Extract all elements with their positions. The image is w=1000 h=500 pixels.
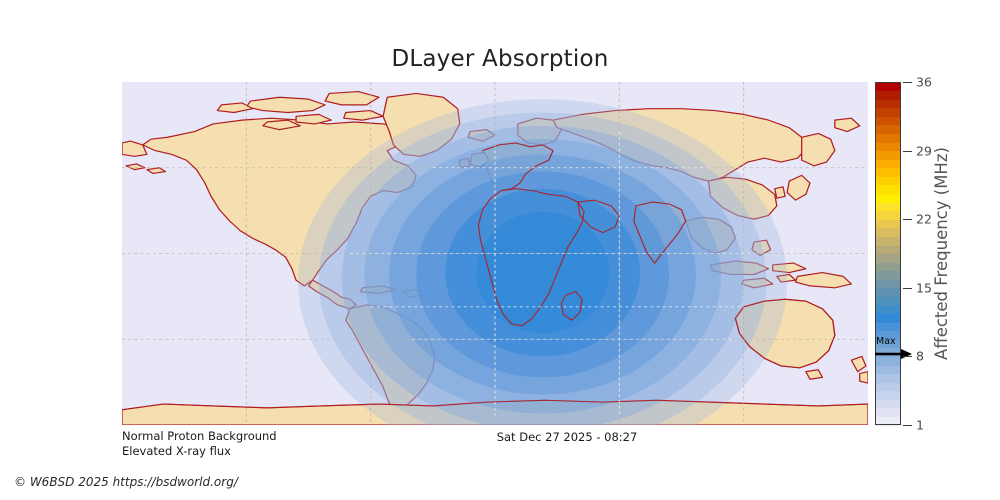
- colorbar-band: [875, 296, 901, 305]
- map-canvas: [122, 82, 868, 425]
- colorbar-band: [875, 245, 901, 254]
- colorbar-band: [875, 271, 901, 280]
- colorbar-tick: [903, 219, 912, 220]
- colorbar-band: [875, 254, 901, 263]
- colorbar-band: [875, 108, 901, 117]
- colorbar-tick: [903, 82, 912, 83]
- colorbar-band: [875, 211, 901, 220]
- colorbar-band: [875, 219, 901, 228]
- colorbar-band: [875, 279, 901, 288]
- colorbar-band: [875, 116, 901, 125]
- colorbar-tick-label: 29: [916, 143, 932, 158]
- colorbar-band: [875, 399, 901, 408]
- colorbar-band: [875, 314, 901, 323]
- colorbar-tick: [903, 356, 912, 357]
- colorbar-band: [875, 99, 901, 108]
- max-marker-label: Max: [876, 336, 896, 347]
- colorbar-band: [875, 125, 901, 134]
- colorbar-max-marker: Max: [874, 339, 914, 365]
- colorbar-band: [875, 228, 901, 237]
- max-arrow-icon: [874, 347, 914, 361]
- colorbar[interactable]: [875, 82, 901, 425]
- colorbar-band: [875, 416, 901, 425]
- timestamp: Sat Dec 27 2025 - 08:27: [0, 430, 1000, 444]
- status-note-xray: Elevated X-ray flux: [122, 444, 231, 458]
- colorbar-band: [875, 288, 901, 297]
- page-title: DLayer Absorption: [0, 46, 1000, 72]
- colorbar-band: [875, 82, 901, 91]
- colorbar-band: [875, 176, 901, 185]
- colorbar-band: [875, 133, 901, 142]
- colorbar-band: [875, 151, 901, 160]
- colorbar-title: Affected Frequency (MHz): [928, 82, 954, 425]
- colorbar-band: [875, 382, 901, 391]
- copyright: © W6BSD 2025 https://bsdworld.org/: [14, 475, 238, 489]
- colorbar-band: [875, 91, 901, 100]
- colorbar-band: [875, 193, 901, 202]
- world-map[interactable]: [122, 82, 868, 425]
- colorbar-band: [875, 185, 901, 194]
- colorbar-tick: [903, 425, 912, 426]
- colorbar-band: [875, 236, 901, 245]
- colorbar-band: [875, 305, 901, 314]
- colorbar-tick: [903, 288, 912, 289]
- colorbar-tick-label: 36: [916, 75, 932, 90]
- colorbar-band: [875, 408, 901, 417]
- colorbar-band: [875, 262, 901, 271]
- colorbar-band: [875, 391, 901, 400]
- colorbar-tick-label: 22: [916, 212, 932, 227]
- colorbar-band: [875, 168, 901, 177]
- colorbar-tick-label: 15: [916, 280, 932, 295]
- colorbar-band: [875, 159, 901, 168]
- colorbar-band: [875, 322, 901, 331]
- colorbar-band: [875, 365, 901, 374]
- colorbar-title-text: Affected Frequency (MHz): [932, 147, 951, 360]
- colorbar-tick: [903, 151, 912, 152]
- colorbar-band: [875, 142, 901, 151]
- colorbar-tick-label: 8: [916, 349, 924, 364]
- colorbar-band: [875, 202, 901, 211]
- colorbar-band: [875, 374, 901, 383]
- colorbar-tick-label: 1: [916, 418, 924, 433]
